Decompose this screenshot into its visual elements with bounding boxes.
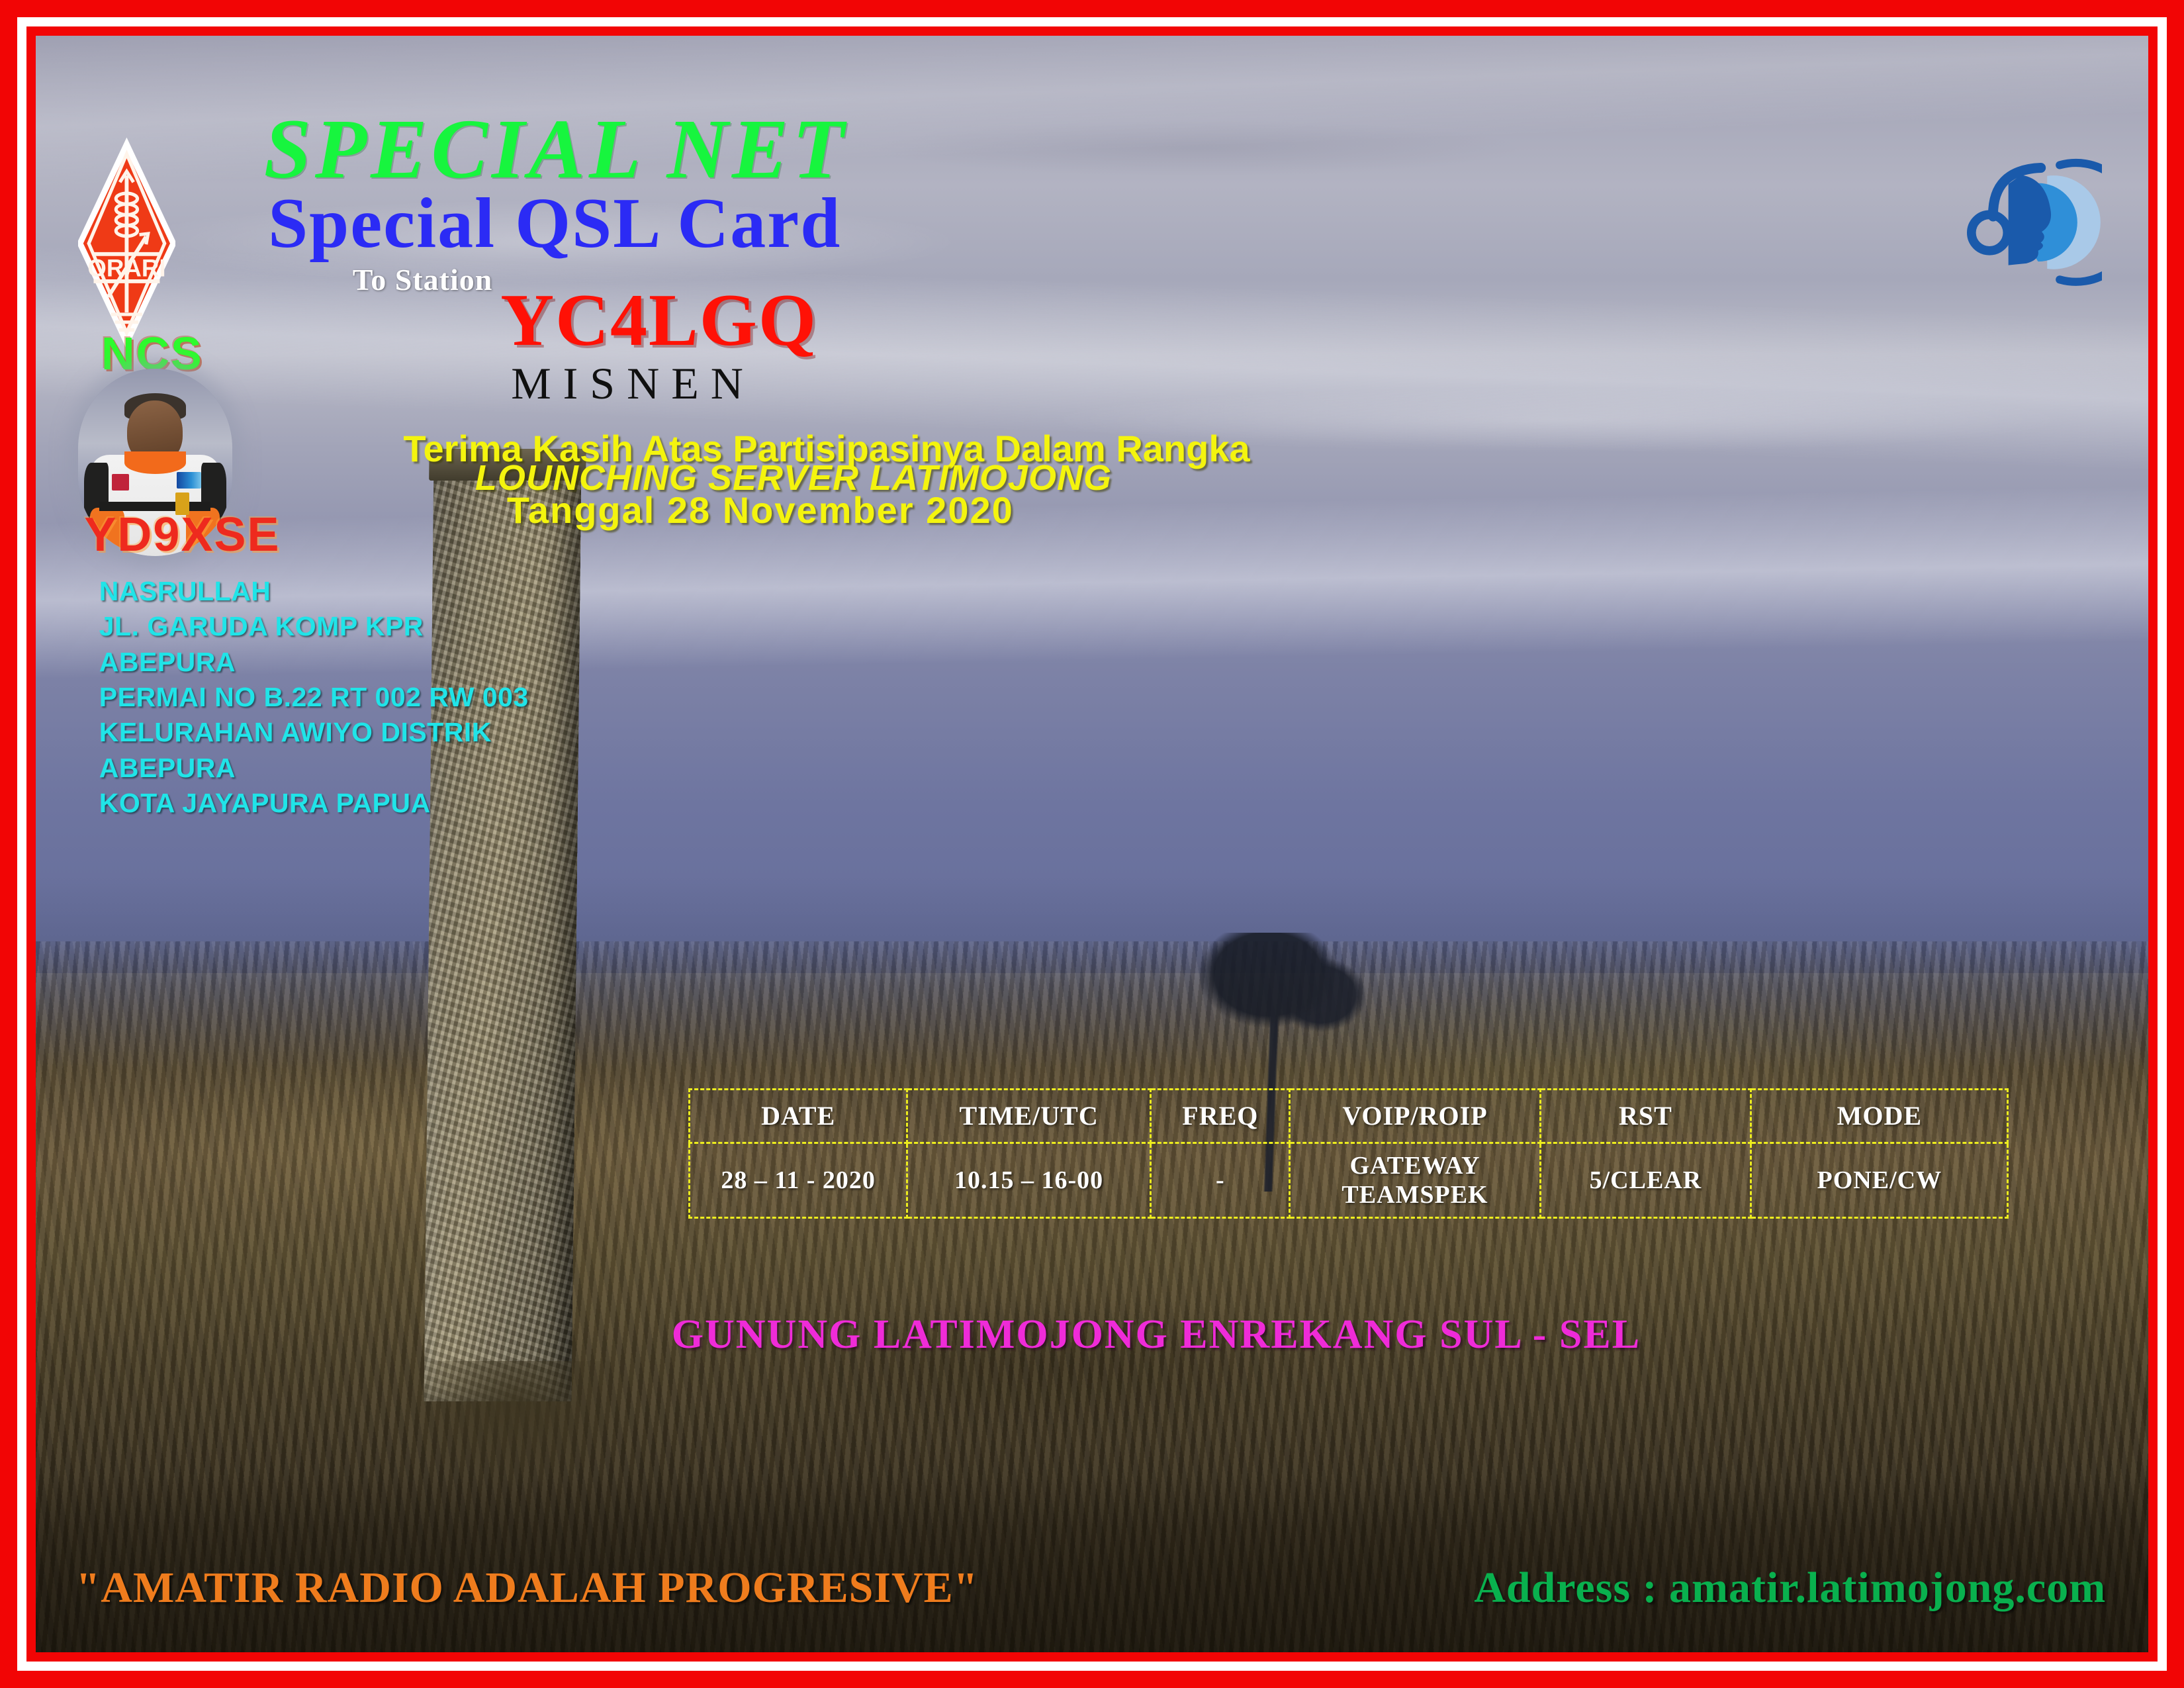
- cell-freq: -: [1151, 1143, 1290, 1217]
- to-station-label: To Station: [353, 262, 493, 297]
- column-header-voip: VOIP/ROIP: [1290, 1089, 1540, 1143]
- cell-time-utc: 10.15 – 16-00: [907, 1143, 1151, 1217]
- radio-head-logo: [1967, 73, 2102, 372]
- ncs-callsign: YD9XSE: [84, 508, 280, 562]
- cell-date: 28 – 11 - 2020: [690, 1143, 907, 1217]
- cell-voip-line1: GATEWAY: [1291, 1151, 1539, 1180]
- photo-patch-right: [177, 472, 201, 489]
- address-line: ABEPURA: [99, 645, 529, 680]
- address-line: PERMAI NO B.22 RT 002 RW 003: [99, 680, 529, 715]
- page-subtitle: Special QSL Card: [268, 183, 841, 265]
- column-header-rst: RST: [1540, 1089, 1751, 1143]
- column-header-time: TIME/UTC: [907, 1089, 1151, 1143]
- qso-table: DATE TIME/UTC FREQ VOIP/ROIP RST MODE 28…: [688, 1088, 2009, 1219]
- cell-voip-line2: TEAMSPEK: [1291, 1180, 1539, 1209]
- address-line: KELURAHAN AWIYO DISTRIK: [99, 715, 529, 750]
- photo-patch-left: [112, 474, 129, 491]
- address-line: ABEPURA: [99, 751, 529, 786]
- cell-mode: PONE/CW: [1751, 1143, 2008, 1217]
- address-line: NASRULLAH: [99, 574, 529, 609]
- motto-text: "AMATIR RADIO ADALAH PROGRESIVE": [76, 1563, 979, 1613]
- qsl-card: ORARI: [0, 0, 2184, 1688]
- qsl-card-inner-border: ORARI: [26, 26, 2158, 1662]
- location-line: GUNUNG LATIMOJONG ENREKANG SUL - SEL: [672, 1311, 1641, 1358]
- column-header-freq: FREQ: [1151, 1089, 1290, 1143]
- thanks-line-3: Tanggal 28 November 2020: [507, 489, 1014, 532]
- table-header-row: DATE TIME/UTC FREQ VOIP/ROIP RST MODE: [690, 1089, 2008, 1143]
- address-line: KOTA JAYAPURA PAPUA: [99, 786, 529, 821]
- cell-voip-roip: GATEWAY TEAMSPEK: [1290, 1143, 1540, 1217]
- station-callsign: YC4LGQ: [500, 278, 817, 363]
- photo-collar: [124, 451, 186, 474]
- qsl-card-white-gap: ORARI: [17, 17, 2167, 1671]
- monument-base-shadow: [399, 1361, 631, 1490]
- address-block: NASRULLAH JL. GARUDA KOMP KPR ABEPURA PE…: [99, 574, 529, 821]
- cell-rst: 5/CLEAR: [1540, 1143, 1751, 1217]
- background-photo: ORARI: [36, 36, 2148, 1652]
- orari-logo-text: ORARI: [87, 255, 165, 282]
- table-row: 28 – 11 - 2020 10.15 – 16-00 - GATEWAY T…: [690, 1143, 2008, 1217]
- column-header-date: DATE: [690, 1089, 907, 1143]
- footer-web-address: Address : amatir.latimojong.com: [1474, 1563, 2106, 1613]
- column-header-mode: MODE: [1751, 1089, 2008, 1143]
- address-line: JL. GARUDA KOMP KPR: [99, 609, 529, 644]
- operator-name: MISNEN: [511, 357, 755, 410]
